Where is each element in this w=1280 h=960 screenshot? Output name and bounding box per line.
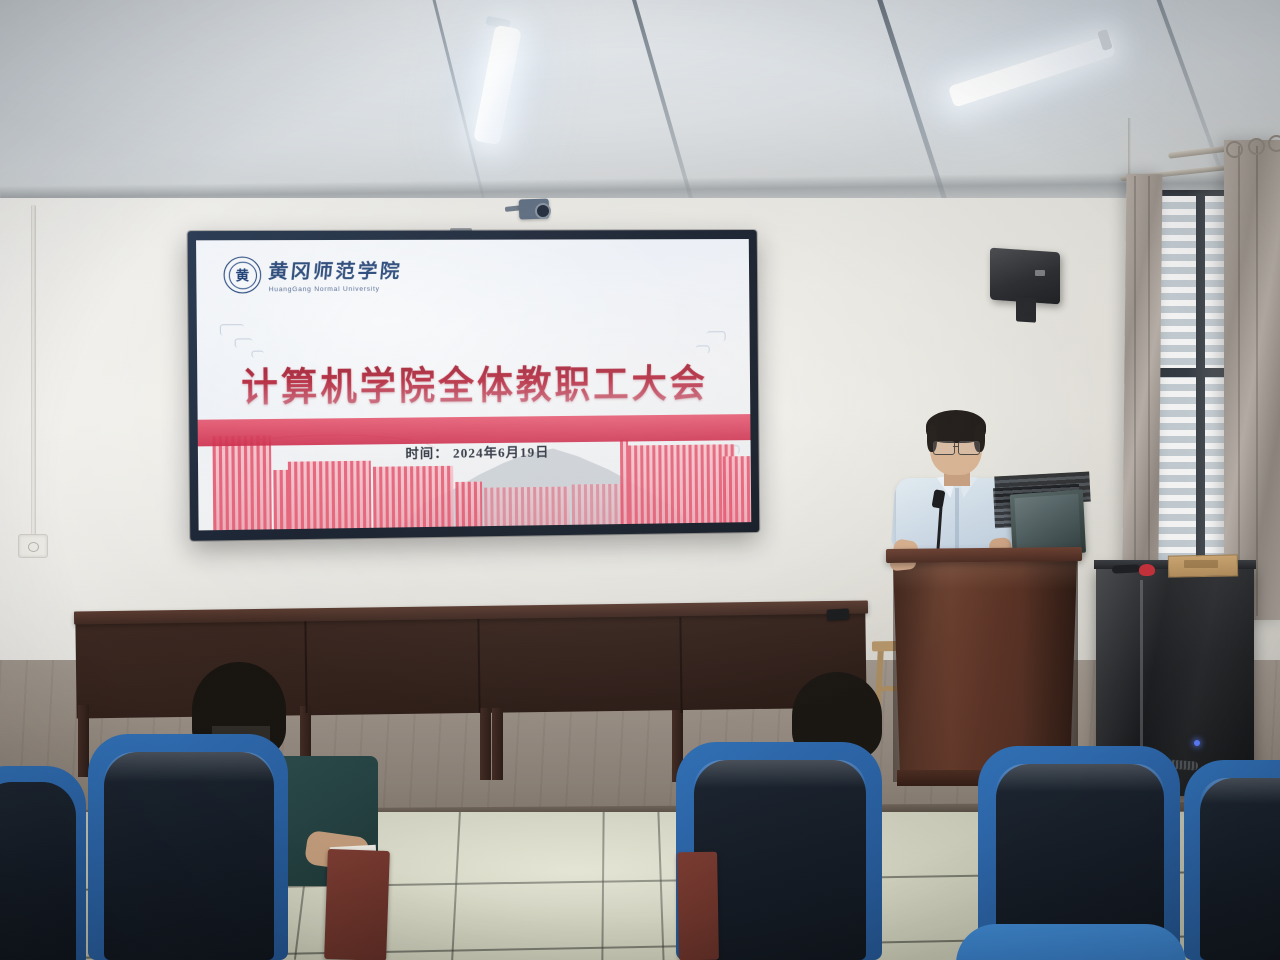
seat-highlight	[996, 764, 1164, 792]
curtain-ring	[1226, 141, 1243, 158]
architecture-illustration	[198, 414, 752, 530]
red-object-icon[interactable]	[1139, 564, 1155, 576]
meeting-room-photo: 黄 黄冈师范学院 HuangGang Normal University 计算机…	[0, 0, 1280, 960]
archway-motif	[273, 470, 288, 529]
table-leg	[480, 708, 491, 780]
table-leg	[492, 708, 503, 780]
seat-cushion[interactable]	[956, 924, 1186, 960]
archway-motif	[484, 487, 570, 527]
presentation-slide[interactable]: 黄 黄冈师范学院 HuangGang Normal University 计算机…	[196, 239, 751, 530]
podium-bevel	[893, 560, 1077, 590]
seat-back-cushion	[0, 782, 76, 960]
status-led-icon	[1194, 740, 1200, 746]
university-logo: 黄 黄冈师范学院 HuangGang Normal University	[223, 256, 402, 293]
eyeglasses-bridge	[953, 446, 958, 447]
archway-motif	[723, 456, 752, 522]
university-seal-icon: 黄	[223, 257, 261, 294]
eyeglasses-icon	[958, 441, 980, 455]
curtain-right[interactable]	[1224, 140, 1280, 620]
cloud-motif	[235, 338, 253, 347]
archway-motif	[572, 484, 627, 525]
university-name-en: HuangGang Normal University	[269, 286, 403, 294]
camera-lens-icon	[535, 203, 551, 219]
slide-title: 计算机学院全体教职工大会	[197, 353, 750, 414]
archway-motif	[288, 461, 372, 529]
cloud-motif	[696, 345, 710, 353]
box-label	[1184, 560, 1218, 568]
seal-glyph: 黄	[236, 268, 250, 281]
archway-base	[198, 414, 751, 446]
wall-conduit	[31, 205, 36, 535]
speaker-bracket	[1016, 297, 1036, 322]
university-name-cn: 黄冈师范学院	[267, 256, 403, 284]
seat-tablet-arm[interactable]	[677, 852, 719, 960]
seat-tablet-arm[interactable]	[324, 849, 390, 960]
black-remote-icon[interactable]	[1112, 564, 1140, 573]
wall-speaker-icon	[990, 248, 1060, 305]
archway-motif	[373, 466, 454, 528]
seat-back-cushion	[694, 760, 866, 960]
curtain-ring	[1248, 138, 1265, 155]
seat-highlight	[694, 760, 866, 788]
cloud-motif	[220, 324, 244, 335]
cloud-motif	[707, 331, 726, 341]
seat-highlight	[104, 752, 274, 782]
monitor-screen[interactable]	[1014, 494, 1080, 551]
eyeglasses-icon	[933, 441, 955, 455]
archway-motif	[455, 482, 482, 527]
podium-shadow-left	[893, 560, 951, 782]
mobile-phone-icon[interactable]	[827, 608, 850, 620]
podium-top[interactable]	[886, 547, 1082, 563]
curtain-ring	[1268, 135, 1280, 152]
table-leg	[78, 705, 89, 777]
seat-back-cushion	[1200, 778, 1280, 960]
seat-back-cushion	[104, 752, 274, 960]
curtain-fold	[1238, 146, 1240, 616]
curtain-fold	[1256, 146, 1258, 616]
projection-screen-frame: 黄 黄冈师范学院 HuangGang Normal University 计算机…	[188, 230, 760, 541]
wall-socket[interactable]	[18, 534, 48, 558]
seat-highlight	[1200, 778, 1280, 804]
archway-motif	[628, 444, 735, 524]
speaker-badge	[1035, 270, 1045, 276]
